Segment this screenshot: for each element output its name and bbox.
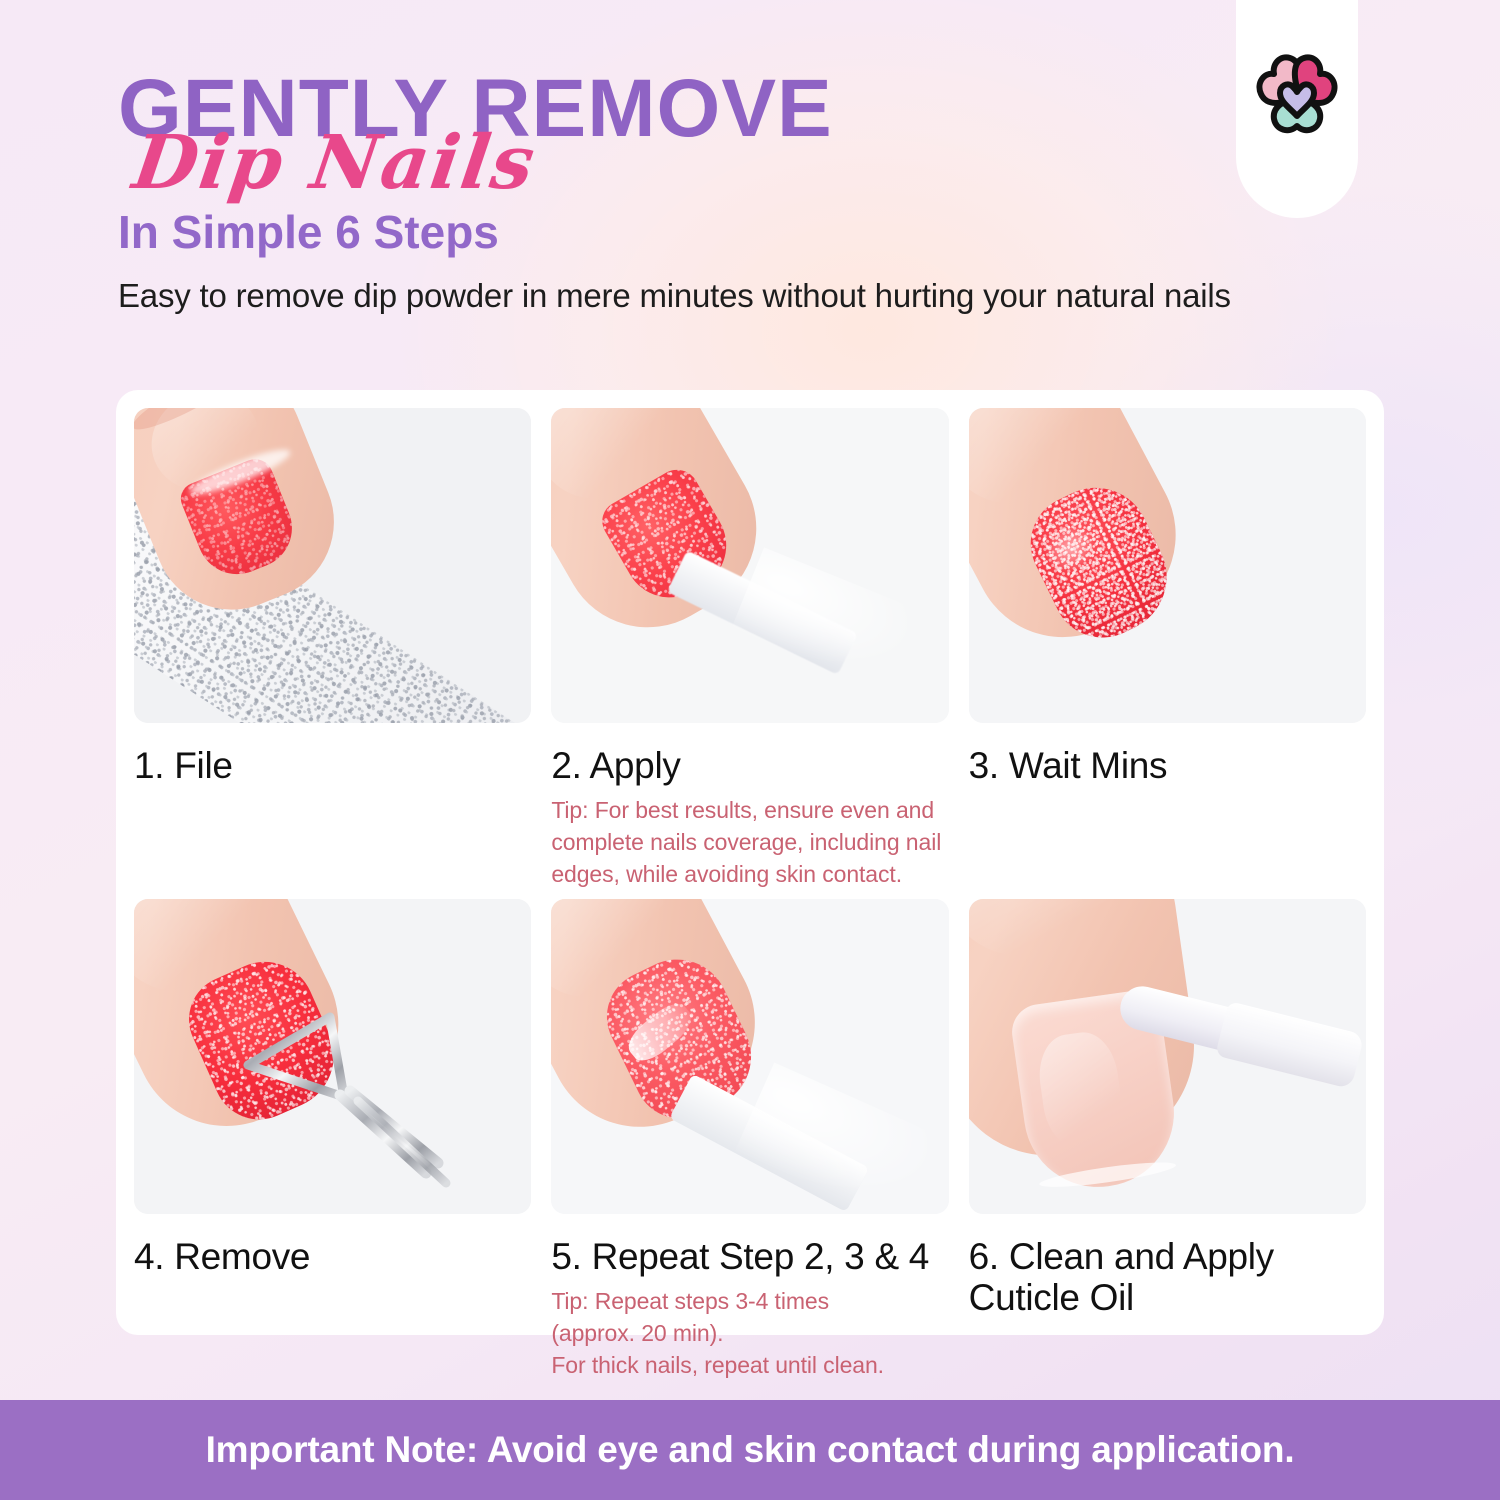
step-cell-2: 2. Apply Tip: For best results, ensure e…	[551, 408, 948, 891]
step-cell-4: 4. Remove	[134, 899, 531, 1382]
step-4-photo	[134, 899, 531, 1214]
page-header: GENTLY REMOVE Dip Nails In Simple 6 Step…	[118, 70, 1418, 315]
step-cell-3: 3. Wait Mins	[969, 408, 1366, 891]
step-5-tip: Tip: Repeat steps 3-4 times (approx. 20 …	[551, 1286, 948, 1381]
step-1-title: 1. File	[134, 745, 531, 786]
step-5-title: 5. Repeat Step 2, 3 & 4	[551, 1236, 948, 1277]
steps-grid: 1. File 2. Apply Tip: For best result	[134, 408, 1366, 1317]
important-note-text: Important Note: Avoid eye and skin conta…	[206, 1429, 1295, 1471]
step-3-photo	[969, 408, 1366, 723]
step-5-photo	[551, 899, 948, 1214]
steps-card: 1. File 2. Apply Tip: For best result	[116, 390, 1384, 1335]
step-1-photo	[134, 408, 531, 723]
brand-logo-tab	[1236, 0, 1358, 218]
flower-hearts-logo-icon	[1244, 44, 1350, 146]
important-note-banner: Important Note: Avoid eye and skin conta…	[0, 1400, 1500, 1500]
step-6-photo	[969, 899, 1366, 1214]
step-cell-6: 6. Clean and Apply Cuticle Oil	[969, 899, 1366, 1382]
step-cell-1: 1. File	[134, 408, 531, 891]
page-title-sub: In Simple 6 Steps	[118, 206, 1418, 259]
page-title-script: Dip Nails	[129, 126, 1423, 200]
step-2-tip: Tip: For best results, ensure even and c…	[551, 795, 948, 890]
step-2-title: 2. Apply	[551, 745, 948, 786]
step-4-title: 4. Remove	[134, 1236, 531, 1277]
page-tagline: Easy to remove dip powder in mere minute…	[118, 277, 1418, 315]
step-6-title: 6. Clean and Apply Cuticle Oil	[969, 1236, 1366, 1319]
step-3-title: 3. Wait Mins	[969, 745, 1366, 786]
step-2-photo	[551, 408, 948, 723]
step-cell-5: 5. Repeat Step 2, 3 & 4 Tip: Repeat step…	[551, 899, 948, 1382]
triangular-scraper-icon	[226, 987, 466, 1214]
